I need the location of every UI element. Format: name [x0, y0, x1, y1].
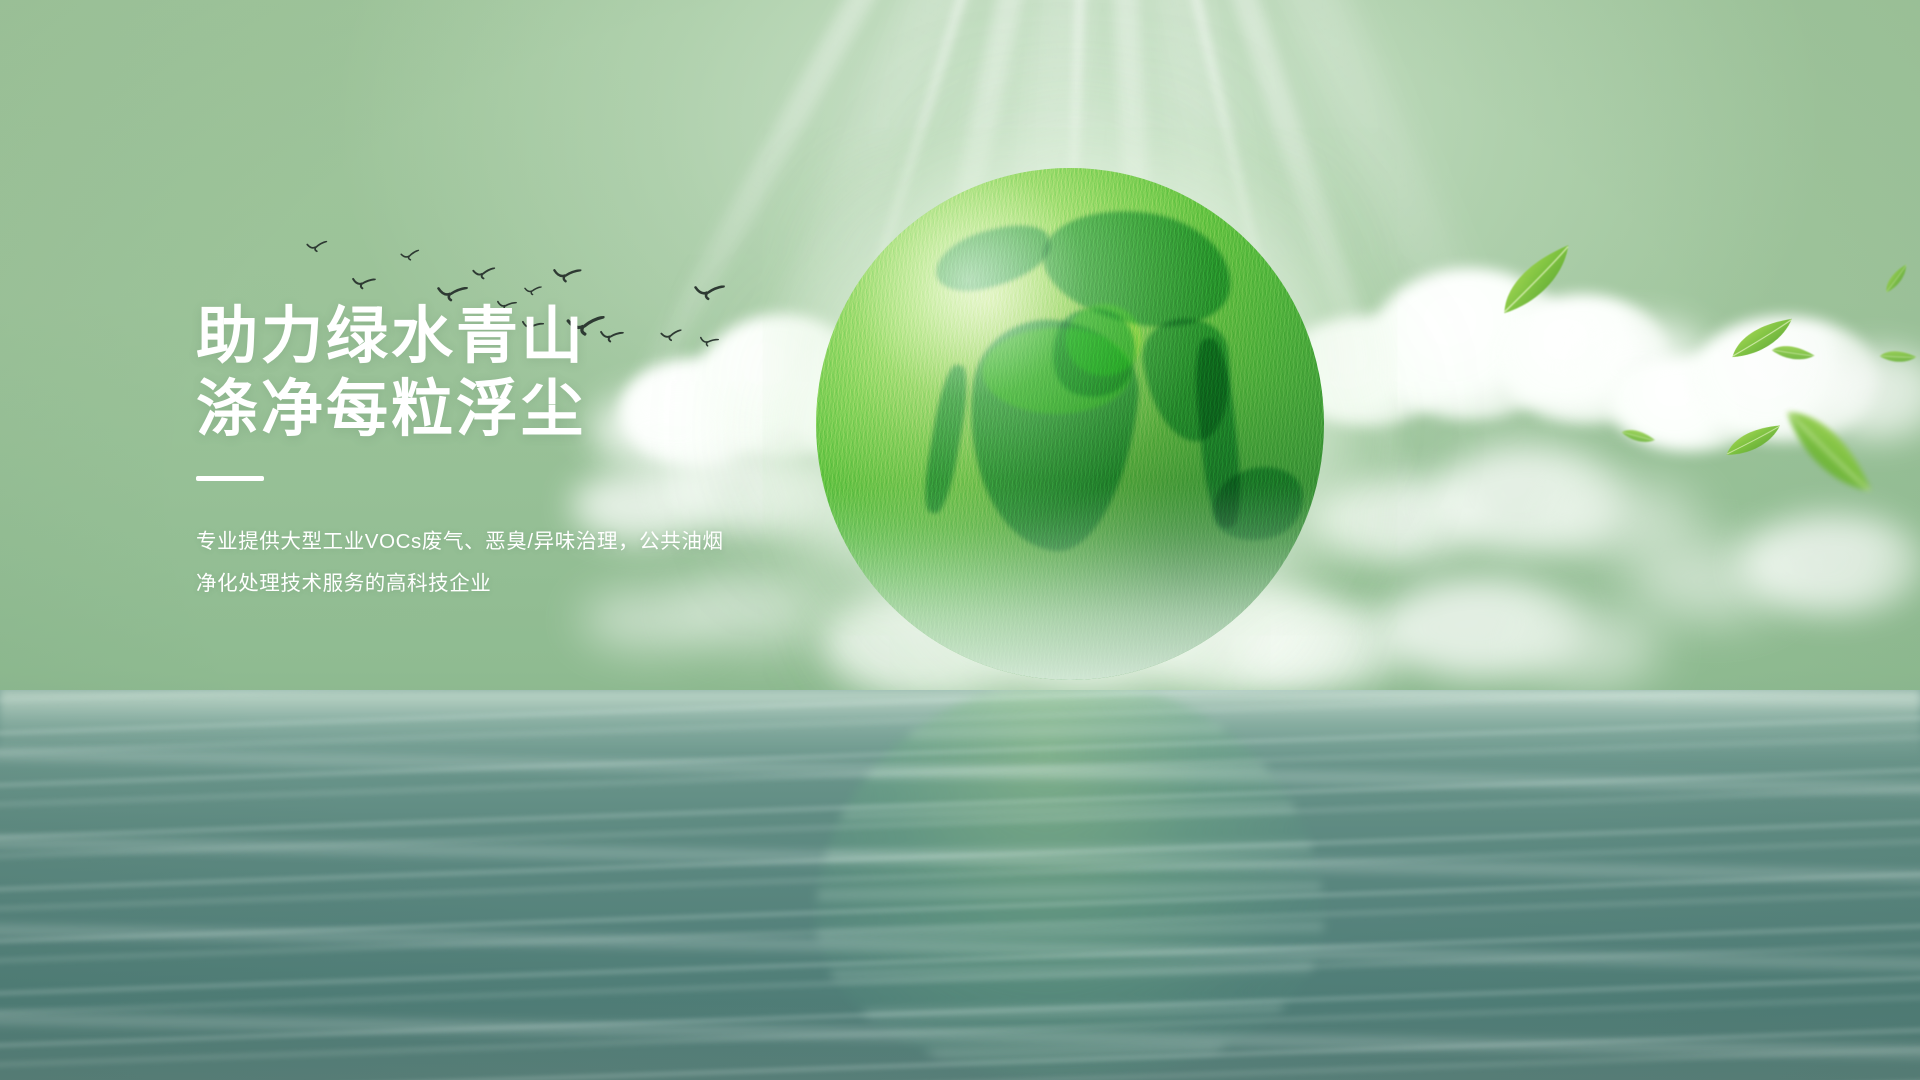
bird-icon	[400, 250, 421, 263]
leaf-icon	[1619, 422, 1657, 451]
headline-divider	[196, 476, 264, 481]
bird-icon	[552, 268, 582, 284]
headline-line-1: 助力绿水青山	[196, 300, 956, 373]
bird-icon	[472, 267, 497, 281]
leaf-icon	[1879, 262, 1916, 296]
hero-subcopy: 专业提供大型工业VOCs废气、恶臭/异味治理，公共油烟净化处理技术服务的高科技企…	[196, 521, 726, 605]
hero-copy: 助力绿水青山 涤净每粒浮尘 专业提供大型工业VOCs废气、恶臭/异味治理，公共油…	[196, 300, 956, 605]
water-ripples-highlight	[0, 690, 1920, 1080]
leaf-icon	[1878, 345, 1919, 370]
cloud-far-right-lower	[1630, 500, 1920, 650]
bird-icon	[306, 241, 329, 254]
leaf-icon	[1721, 422, 1787, 461]
hero-banner: 助力绿水青山 涤净每粒浮尘 专业提供大型工业VOCs废气、恶臭/异味治理，公共油…	[0, 0, 1920, 1080]
headline-line-2: 涤净每粒浮尘	[196, 373, 956, 446]
leaf-icon	[1724, 315, 1801, 365]
leaf-icon	[1776, 391, 1878, 516]
leaf-icon	[1769, 337, 1817, 370]
leaf-icon	[1487, 239, 1589, 322]
water-surface	[0, 690, 1920, 1080]
cloud-far-right	[1610, 300, 1920, 460]
bird-icon	[524, 286, 543, 296]
cloud-right-mid	[1300, 430, 1680, 590]
bird-icon	[351, 277, 377, 291]
